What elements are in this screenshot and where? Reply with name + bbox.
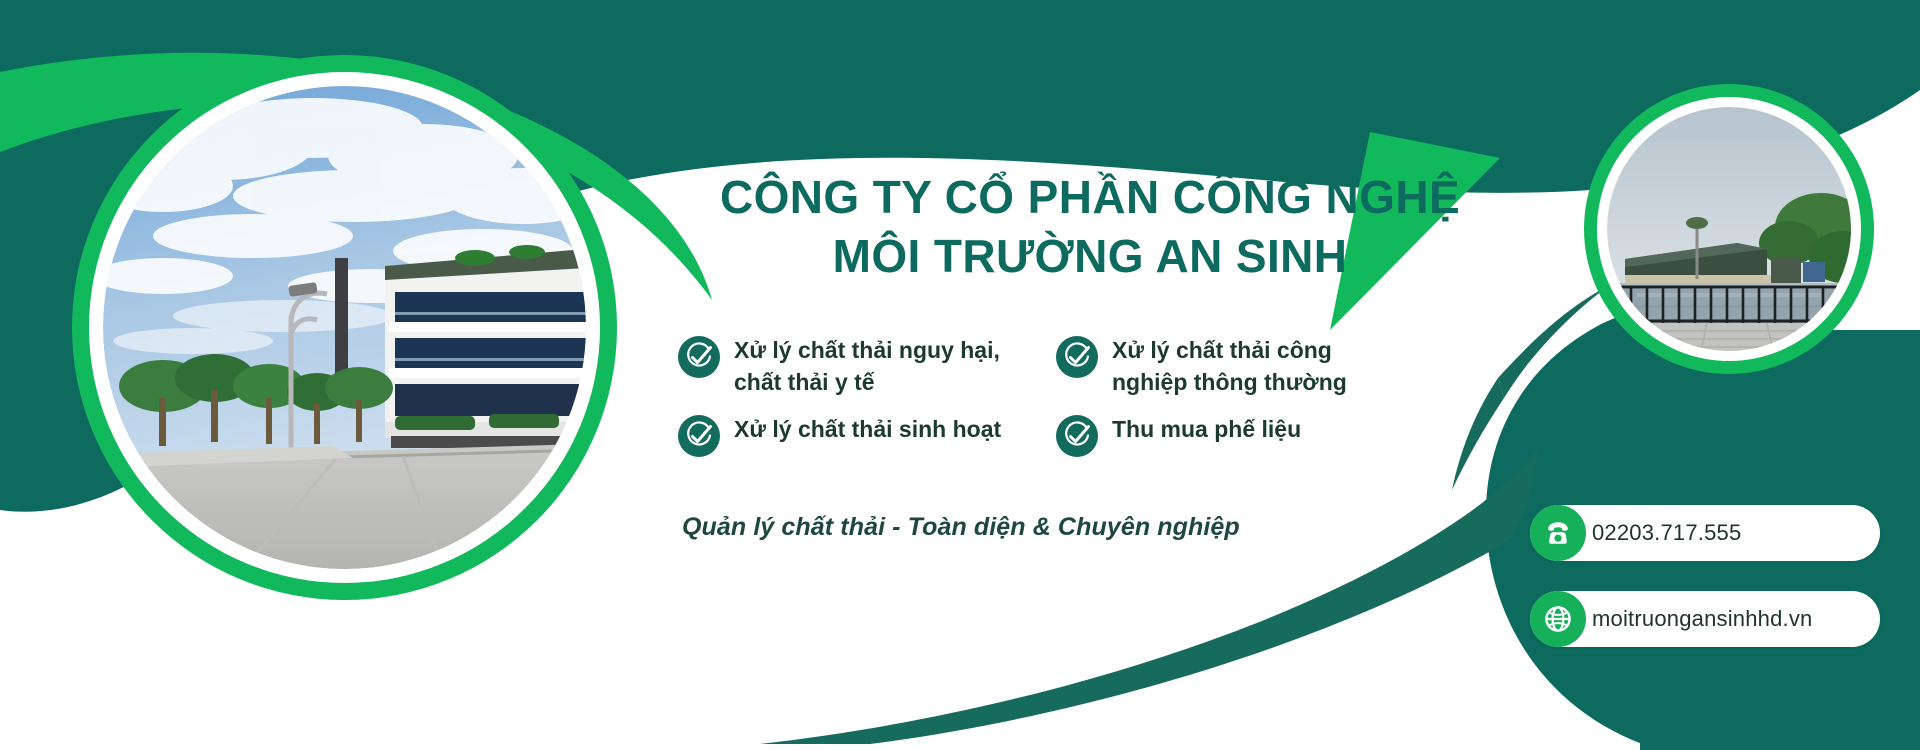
list-item-label: Xử lý chất thải công nghiệp thông thường: [1112, 334, 1396, 399]
tagline: Quản lý chất thải - Toàn diện & Chuyên n…: [682, 513, 1520, 542]
telephone-icon: [1530, 505, 1586, 561]
list-item-label: Thu mua phế liệu: [1112, 413, 1301, 446]
wastewater-treatment-photo: [1607, 107, 1851, 351]
globe-icon: [1530, 591, 1586, 647]
phone-number: 02203.717.555: [1592, 520, 1741, 546]
treatment-plant-illustration: [1607, 107, 1851, 351]
page-title: CÔNG TY CỔ PHẦN CÔNG NGHỆ MÔI TRƯỜNG AN …: [660, 0, 1520, 286]
check-circle-icon: [1056, 336, 1098, 378]
website-url: moitruongansinhhd.vn: [1592, 606, 1812, 632]
services-list: Xử lý chất thải nguy hại, chất thải y tế…: [678, 334, 1520, 457]
list-item: Xử lý chất thải nguy hại, chất thải y tế: [678, 334, 1038, 399]
contact-list: 02203.717.555 moitruongansinhhd.vn: [1530, 505, 1880, 647]
list-item-label: Xử lý chất thải sinh hoạt: [734, 413, 1001, 446]
banner-content: CÔNG TY CỔ PHẦN CÔNG NGHỆ MÔI TRƯỜNG AN …: [660, 0, 1520, 750]
list-item: Thu mua phế liệu: [1056, 413, 1396, 457]
website-contact-pill[interactable]: moitruongansinhhd.vn: [1530, 591, 1880, 647]
check-circle-icon: [678, 336, 720, 378]
check-circle-icon: [1056, 415, 1098, 457]
right-photo-ring: [1584, 84, 1874, 374]
company-banner: CÔNG TY CỔ PHẦN CÔNG NGHỆ MÔI TRƯỜNG AN …: [0, 0, 1920, 750]
left-photo-ring: [72, 55, 617, 600]
list-item: Xử lý chất thải sinh hoạt: [678, 413, 1038, 457]
check-circle-icon: [678, 415, 720, 457]
company-headquarters-photo: [103, 86, 586, 569]
list-item-label: Xử lý chất thải nguy hại, chất thải y tế: [734, 334, 1034, 399]
headquarters-illustration: [103, 86, 586, 569]
phone-contact-pill[interactable]: 02203.717.555: [1530, 505, 1880, 561]
title-line-2: MÔI TRƯỜNG AN SINH: [660, 227, 1520, 286]
list-item: Xử lý chất thải công nghiệp thông thường: [1056, 334, 1396, 399]
title-line-1: CÔNG TY CỔ PHẦN CÔNG NGHỆ: [660, 168, 1520, 227]
